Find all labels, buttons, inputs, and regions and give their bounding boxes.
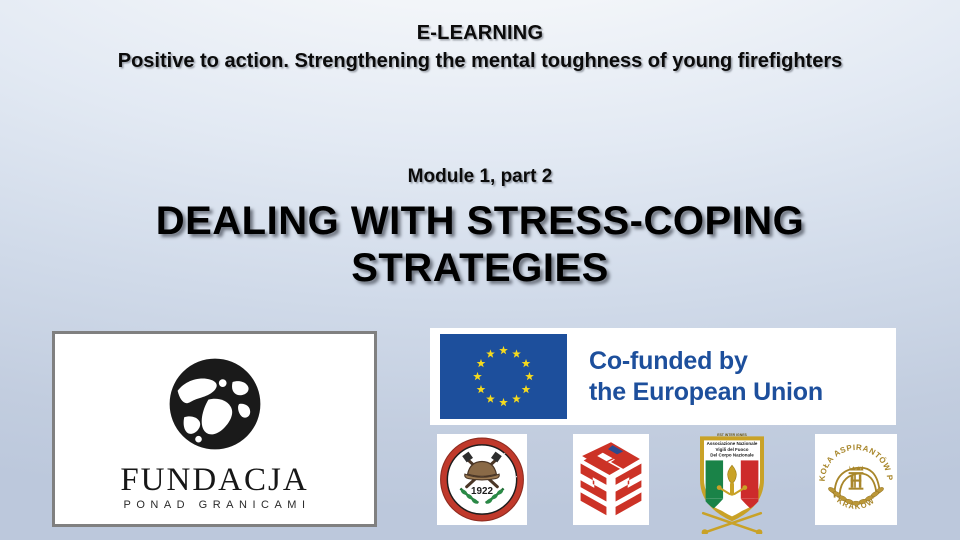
partner-logo-sapsp-krakow: SZKOŁA ASPIRANTÓW PSP "KRAKÓW" (815, 434, 897, 525)
fundacja-wordmark: FUNDACJA (120, 463, 308, 497)
fundacja-tagline: PONAD GRANICAMI (118, 499, 310, 511)
eu-flag-icon (440, 334, 567, 419)
osp-year-text: 1922 (471, 486, 493, 497)
page-title-line-1: DEALING WITH STRESS-COPING (0, 198, 960, 245)
header-line-subtitle: Positive to action. Strengthening the me… (0, 46, 960, 76)
partner-logo-osp-wegrzce: OCHOTNICZA STRAŻ POŻARNA • WĘGRZCE • (437, 434, 527, 525)
title-block: Module 1, part 2 DEALING WITH STRESS-COP… (0, 165, 960, 292)
eu-text-line-2: the European Union (589, 377, 823, 408)
slide-header: E-LEARNING Positive to action. Strengthe… (0, 20, 960, 76)
eu-cofunding-text: Co-funded by the European Union (589, 346, 823, 408)
slide-canvas: E-LEARNING Positive to action. Strengthe… (0, 0, 960, 540)
anvvf-line-1: Associazione Nazionale (707, 441, 758, 446)
fundacja-logo-box: FUNDACJA PONAD GRANICAMI (52, 331, 377, 527)
eu-text-line-1: Co-funded by (589, 346, 823, 377)
anvvf-line-2: Vigili del Fuoco (716, 447, 749, 452)
partner-logo-anvvf-italy: EST INTER IGNES Associazione Nazionale V… (692, 430, 772, 534)
globe-icon (160, 349, 270, 459)
partner-logo-red-cube (573, 434, 649, 525)
anvvf-line-3: Del Corpo Nazionale (710, 452, 754, 457)
anvvf-motto-text: EST INTER IGNES (717, 433, 747, 437)
eu-cofunding-logo-box: Co-funded by the European Union (430, 328, 896, 425)
page-title: DEALING WITH STRESS-COPING STRATEGIES (0, 198, 960, 292)
module-label: Module 1, part 2 (0, 165, 960, 189)
page-title-line-2: STRATEGIES (0, 245, 960, 292)
header-line-elearning: E-LEARNING (0, 20, 960, 46)
